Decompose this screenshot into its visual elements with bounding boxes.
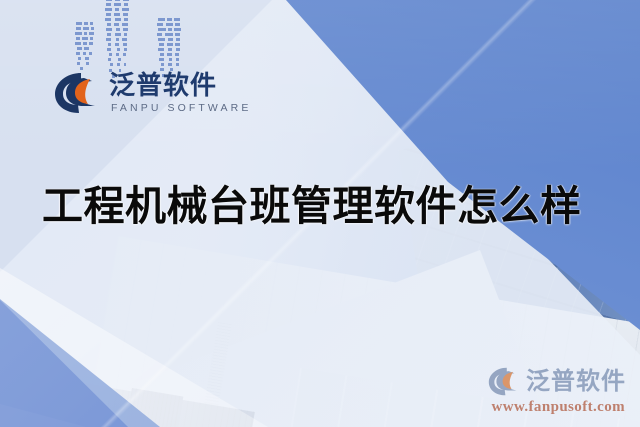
watermark-url: www.fanpusoft.com [488, 400, 625, 415]
watermark: 泛普软件 www.fanpusoft.com [488, 367, 626, 415]
logo-name-cn: 泛普软件 [109, 72, 251, 98]
brand-logo: 泛普软件 FANPU SOFTWARE [54, 72, 251, 114]
promo-banner: 泛普软件 FANPU SOFTWARE 工程机械台班管理软件怎么样 泛普软件 w… [0, 0, 640, 427]
fanpu-logo-mark-icon [54, 72, 100, 114]
fanpu-watermark-mark-icon [488, 367, 520, 396]
watermark-name-cn: 泛普软件 [526, 370, 626, 394]
page-title: 工程机械台班管理软件怎么样 [42, 186, 582, 227]
logo-name-en: FANPU SOFTWARE [111, 103, 251, 114]
watermark-row: 泛普软件 [488, 367, 626, 396]
logo-wordmark: 泛普软件 FANPU SOFTWARE [109, 72, 251, 114]
